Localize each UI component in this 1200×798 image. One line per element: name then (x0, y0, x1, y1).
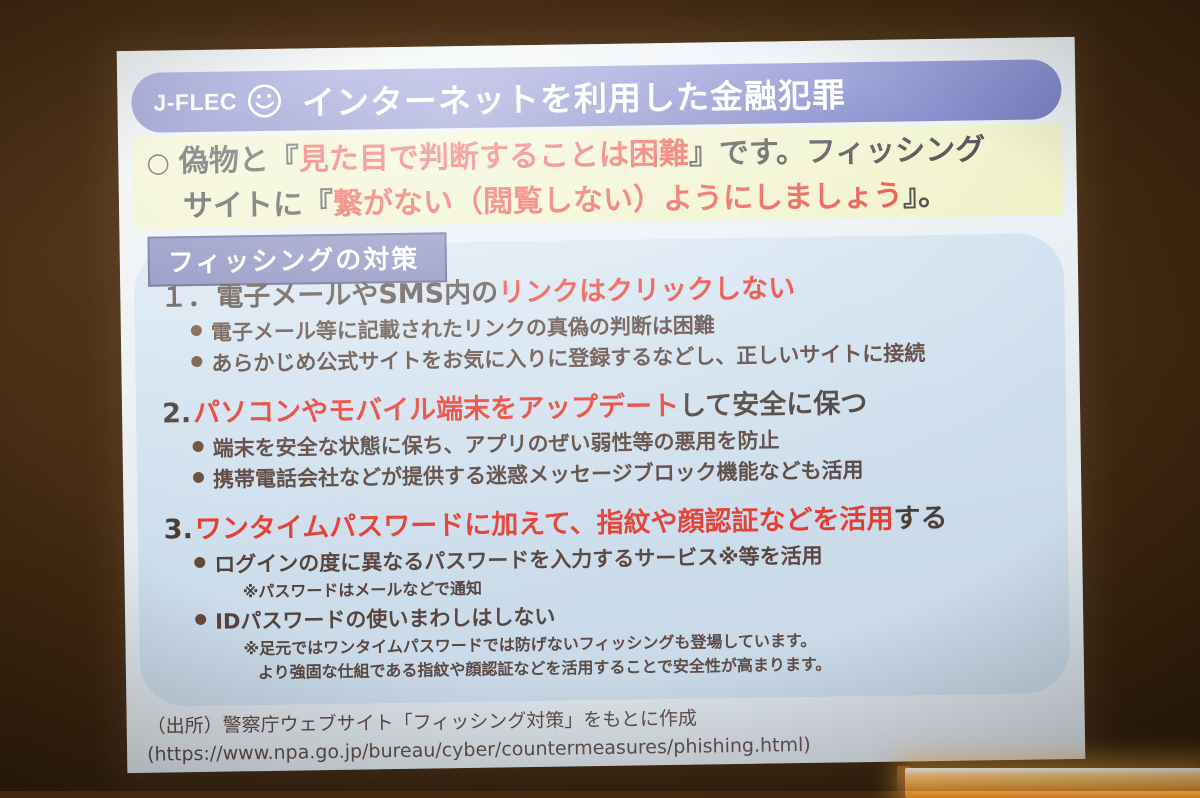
bullet-dot-icon (191, 325, 202, 336)
bullet-dot-icon (195, 614, 206, 625)
item-1-number: １． (160, 280, 215, 317)
callout-line-2-part-a: サイトに『 (183, 183, 334, 229)
item-1-heading-red: リンクはクリックしない (498, 271, 796, 311)
item-3-heading-black: する (893, 501, 948, 538)
callout-line-1-part-b: 見た目で判断することは困難 (299, 133, 690, 183)
callout-banner: ○ 偽物と『見た目で判断することは困難』です。フィッシング サイトに『繋がない（… (132, 123, 1063, 229)
bullet-dot-icon (193, 472, 204, 483)
item-1-heading-black: 電子メールやSMS内の (216, 276, 498, 316)
list-item-1: １．電子メールやSMS内のリンクはクリックしない 電子メール等に記載されたリンク… (160, 267, 1047, 380)
callout-line-2-part-b: 繋がない（閲覧しない）ようにしましょう (333, 175, 904, 227)
room-background: J-FLEC インターネットを利用した金融犯罪 ○ (0, 0, 1200, 791)
callout-marker-icon: ○ (146, 141, 170, 185)
item-2-bullets: 端末を安全な状態に保ち、アプリのぜい弱性等の悪用を防止 携帯電話会社などが提供す… (162, 421, 1049, 496)
countermeasures-list: １．電子メールやSMS内のリンクはクリックしない 電子メール等に記載されたリンク… (134, 233, 1071, 707)
stage-light-bar (905, 768, 1200, 798)
bullet-dot-icon (192, 441, 203, 452)
list-item-2: 2.パソコンやモバイル端末をアップデートして安全に保つ 端末を安全な状態に保ち、… (162, 383, 1049, 496)
bullet-dot-icon (194, 557, 205, 568)
item-3-number: 3. (164, 512, 194, 548)
smiley-wink-icon (246, 83, 283, 120)
item-2-heading-red: パソコンやモバイル端末をアップデート (193, 389, 679, 432)
list-item-3: 3.ワンタイムパスワードに加えて、指紋や顔認証などを活用する ログインの度に異な… (164, 499, 1052, 686)
item-2-number: 2. (162, 396, 192, 432)
item-1-bullets: 電子メール等に記載されたリンクの真偽の判断は困難 あらかじめ公式サイトをお気に入… (161, 305, 1048, 380)
slide-title: インターネットを利用した金融犯罪 (302, 68, 847, 124)
item-2-heading-black: して安全に保つ (679, 386, 868, 425)
slide-header-bar: J-FLEC インターネットを利用した金融犯罪 (131, 59, 1062, 133)
bullet-text: IDパスワードの使いまわしはしない (215, 602, 556, 638)
source-footnote: （出所）警察庁ウェブサイト「フィッシング対策」をもとに作成 (https://w… (147, 699, 1068, 769)
jflec-logo: J-FLEC (153, 83, 282, 121)
callout-line-2-part-c: 』。 (903, 174, 949, 219)
bullet-dot-icon (191, 356, 202, 367)
jflec-wordmark: J-FLEC (153, 88, 237, 116)
callout-line-1-part-c: 』です。フィッシング (689, 128, 986, 176)
callout-line-1-part-a: 偽物と『 (179, 138, 300, 184)
projected-slide: J-FLEC インターネットを利用した金融犯罪 ○ (117, 37, 1086, 773)
